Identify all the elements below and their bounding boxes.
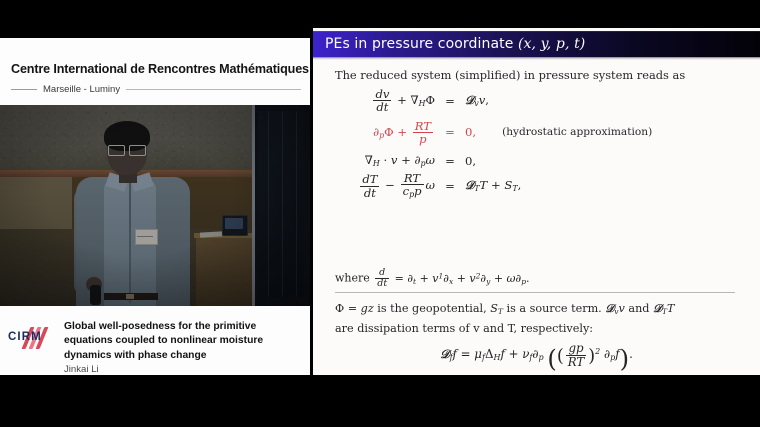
divider-right bbox=[126, 89, 301, 90]
where-line: where ddt = ∂t + v1∂x + v2∂y + ω∂p. bbox=[335, 268, 745, 289]
equation-row-hydrostatic: ∂pΦ + RTp = 0, (hydrostatic approximatio… bbox=[313, 120, 760, 146]
institution-location: Marseille - Luminy bbox=[43, 84, 120, 95]
equation-row: dTdt − RTcppω = 𝒟TT + ST, bbox=[313, 172, 760, 200]
equation-lhs: dTdt − RTcppω bbox=[313, 172, 442, 200]
slide-lead-text: The reduced system (simplified) in press… bbox=[335, 68, 745, 82]
equation-rhs: 𝒟TT + ST, bbox=[458, 178, 521, 193]
slide-paragraph: Φ = gz is the geopotential, ST is a sour… bbox=[335, 300, 751, 337]
talk-title: Global well-posedness for the primitive … bbox=[64, 320, 302, 363]
where-label: where bbox=[335, 272, 370, 285]
where-expression: ddt = ∂t + v1∂x + v2∂y + ω∂p. bbox=[373, 272, 529, 285]
equation-row: ∇H · v + ∂pω = 0, bbox=[313, 151, 760, 170]
left-panel: Centre International de Rencontres Mathé… bbox=[0, 38, 310, 375]
speaker-video[interactable] bbox=[0, 105, 310, 306]
equation-system: dvdt + ∇HΦ = 𝒟vv, ∂pΦ + RTp = 0, bbox=[313, 88, 760, 200]
equation-rhs: 0, bbox=[458, 154, 476, 168]
screen-root: Centre International de Rencontres Mathé… bbox=[0, 0, 760, 427]
equation-note: (hydrostatic approximation) bbox=[476, 126, 652, 138]
slide-title: PEs in pressure coordinate (x, y, p, t) bbox=[325, 36, 585, 52]
slide-title-bar: PEs in pressure coordinate (x, y, p, t) bbox=[313, 31, 760, 57]
institution-name: Centre International de Rencontres Mathé… bbox=[11, 62, 309, 76]
horizontal-divider bbox=[335, 292, 735, 293]
slide-title-prefix: PEs in pressure coordinate bbox=[325, 36, 513, 52]
slide-title-bar-highlight bbox=[313, 31, 760, 32]
slide-title-vars: (x, y, p, t) bbox=[518, 36, 585, 52]
equation-lhs: dvdt + ∇HΦ bbox=[313, 88, 442, 114]
equation-row: dvdt + ∇HΦ = 𝒟vv, bbox=[313, 88, 760, 114]
equation-relation: = bbox=[442, 94, 458, 108]
video-vignette bbox=[0, 105, 310, 306]
divider-left bbox=[11, 89, 37, 90]
presentation-slide: PEs in pressure coordinate (x, y, p, t) … bbox=[313, 28, 760, 375]
equation-rhs: 0, bbox=[458, 125, 476, 139]
equation-rhs: 𝒟vv, bbox=[458, 93, 489, 108]
equation-relation: = bbox=[442, 154, 458, 168]
equation-relation: = bbox=[442, 125, 458, 139]
cirm-logo-text: CIRM bbox=[8, 330, 60, 344]
equation-relation: = bbox=[442, 179, 458, 193]
dissipation-equation: 𝒟ff = μfΔHf + νf∂p ((gpRT)2 ∂pf). bbox=[313, 342, 760, 373]
cirm-logo: CIRM bbox=[8, 325, 60, 351]
equation-lhs: ∂pΦ + RTp bbox=[313, 120, 442, 146]
institution-header: Centre International de Rencontres Mathé… bbox=[0, 38, 310, 105]
talk-author: Jinkai Li bbox=[64, 364, 302, 375]
talk-caption: CIRM Global well-posedness for the primi… bbox=[0, 306, 310, 375]
equation-lhs: ∇H · v + ∂pω bbox=[313, 153, 442, 168]
slide-paragraph-line2: are dissipation terms of v and T, respec… bbox=[335, 322, 593, 335]
slide-body: The reduced system (simplified) in press… bbox=[313, 60, 760, 375]
institution-location-row: Marseille - Luminy bbox=[11, 82, 301, 96]
